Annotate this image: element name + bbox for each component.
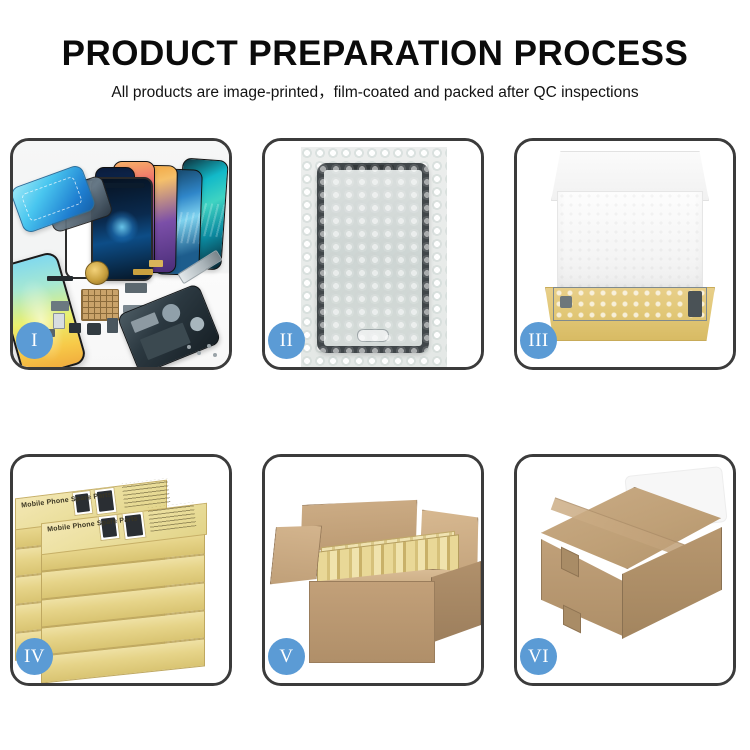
button-part-icon — [107, 318, 118, 333]
gold-contact-icon — [133, 269, 153, 275]
step-badge-3: III — [520, 322, 557, 359]
step-panel-5: V — [262, 454, 484, 686]
step-badge-4: IV — [16, 638, 53, 675]
step-badge-2: II — [268, 322, 305, 359]
header: PRODUCT PREPARATION PROCESS All products… — [0, 0, 750, 101]
charging-port-icon — [125, 283, 147, 293]
antenna-strip-icon — [47, 276, 73, 281]
foam-insert-icon — [557, 191, 703, 291]
page-subtitle: All products are image-printed，film-coat… — [0, 71, 750, 101]
carton-front-face — [309, 581, 435, 663]
vibrator-icon — [87, 323, 101, 335]
step-badge-1: I — [16, 322, 53, 359]
connector-grid-icon — [81, 289, 119, 321]
wrapped-screen-icon — [317, 163, 429, 353]
camera-module-icon — [69, 323, 81, 333]
steps-grid: I II III — [10, 138, 740, 686]
box-thumbnail-icon — [93, 487, 117, 515]
step-panel-4: Mobile Phone Spare Parts Mobile Phone Sp… — [10, 454, 232, 686]
step-badge-5: V — [268, 638, 305, 675]
step-panel-6: VI — [514, 454, 736, 686]
step-panel-3: III — [514, 138, 736, 370]
step-panel-2: II — [262, 138, 484, 370]
sim-tray-icon — [53, 313, 65, 329]
carton-flap-left — [270, 521, 322, 589]
wrapped-screen-in-tray-icon — [553, 287, 707, 321]
flex-cable-icon — [51, 301, 69, 311]
step-panel-1: I — [10, 138, 232, 370]
step-badge-6: VI — [520, 638, 557, 675]
speaker-module-icon — [85, 261, 109, 285]
product-preparation-infographic: PRODUCT PREPARATION PROCESS All products… — [0, 0, 750, 750]
screws-icon — [185, 343, 219, 359]
page-title: PRODUCT PREPARATION PROCESS — [0, 0, 750, 71]
gold-clip-icon — [149, 260, 163, 267]
